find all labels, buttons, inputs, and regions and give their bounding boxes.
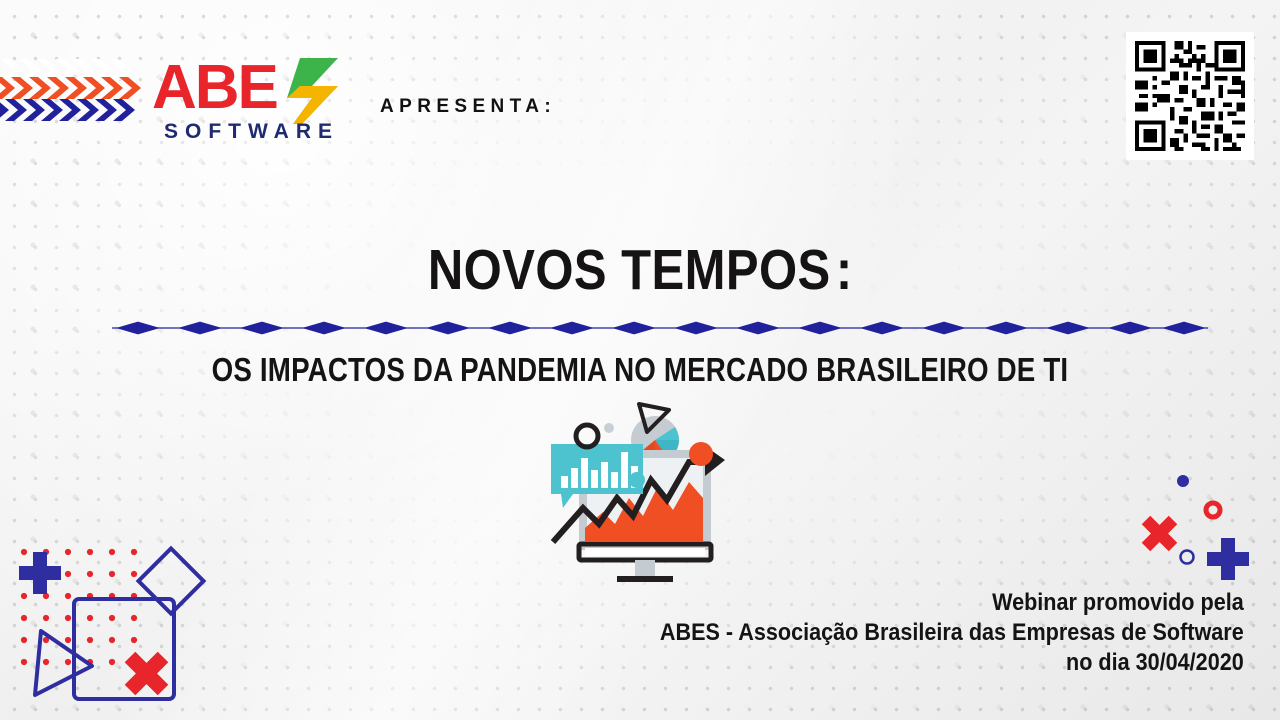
footer-credits: Webinar promovido pela ABES - Associação… (660, 588, 1244, 678)
decorative-shapes-bottom-left (0, 540, 220, 720)
page-title: NOVOS TEMPOS: (90, 237, 1191, 303)
x-mark-icon (1146, 520, 1173, 547)
page-title-colon: : (836, 238, 852, 302)
orange-dot (689, 442, 713, 466)
x-mark-icon (130, 657, 163, 690)
diamond-divider (112, 320, 1208, 336)
presents-label: APRESENTA: (380, 96, 556, 118)
footer-line-3: no dia 30/04/2020 (660, 648, 1244, 678)
footer-line-2: ABES - Associação Brasileira das Empresa… (660, 618, 1244, 648)
abes-logo-main: ABE (152, 53, 277, 122)
diamond-outline-icon (138, 548, 203, 613)
abes-logo-accent-s (287, 58, 338, 124)
circle-outline-icon (576, 425, 598, 447)
qr-code[interactable] (1126, 32, 1254, 160)
slide-root: ABE SOFTWARE APRESENTA: (0, 0, 1280, 720)
teal-dot (629, 472, 645, 488)
abes-logo-sub: SOFTWARE (164, 120, 339, 143)
data-analytics-monitor-illustration (533, 392, 757, 592)
red-circle-outline (1206, 503, 1220, 517)
chevron-arrows-icon (0, 57, 152, 131)
page-title-text: NOVOS TEMPOS (428, 238, 831, 302)
decorative-dot (604, 423, 614, 433)
footer-line-1: Webinar promovido pela (660, 588, 1244, 618)
decorative-shapes-bottom-right (1130, 460, 1270, 580)
plus-icon (1207, 538, 1249, 580)
navy-dot (1177, 475, 1189, 487)
abes-logo[interactable]: ABE SOFTWARE (152, 52, 344, 144)
navy-circle-outline (1181, 551, 1194, 564)
page-subtitle: OS IMPACTOS DA PANDEMIA NO MERCADO BRASI… (102, 351, 1177, 389)
plus-icon (19, 552, 61, 594)
